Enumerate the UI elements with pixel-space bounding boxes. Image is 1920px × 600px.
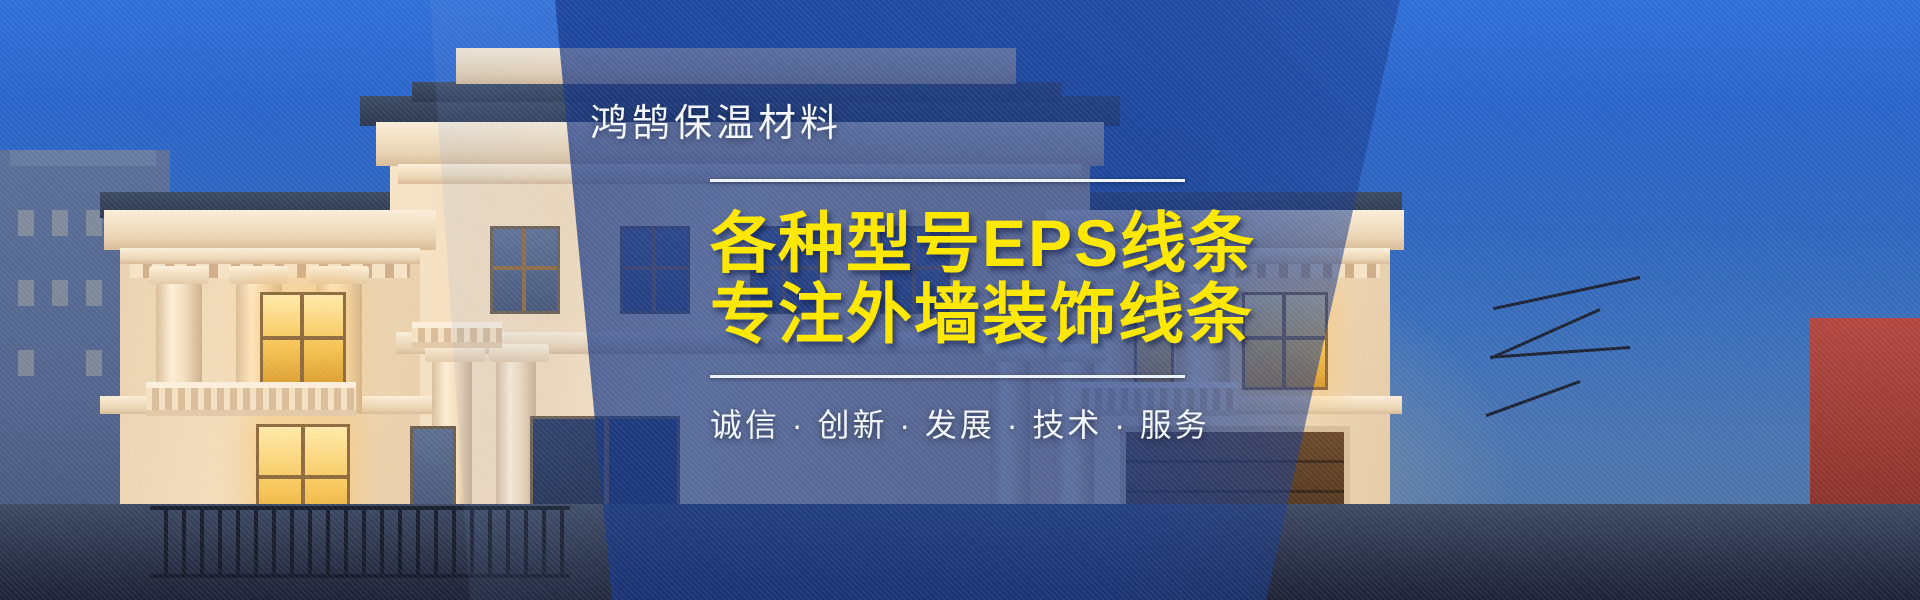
divider-bottom [710, 375, 1185, 378]
brand-name: 鸿鹄保温材料 [590, 92, 1230, 147]
headline: 各种型号EPS线条 专注外墙装饰线条 [710, 208, 1230, 351]
headline-line-2: 专注外墙装饰线条 [710, 279, 1230, 350]
red-structure [1810, 318, 1920, 508]
tree-branch [1430, 260, 1690, 450]
hero-banner: 鸿鹄保温材料 各种型号EPS线条 专注外墙装饰线条 诚信 · 创新 · 发展 ·… [0, 0, 1920, 600]
window-glow [260, 292, 346, 390]
headline-line-1: 各种型号EPS线条 [710, 206, 1256, 280]
tagline: 诚信 · 创新 · 发展 · 技术 · 服务 [710, 400, 1230, 446]
banner-copy: 鸿鹄保温材料 各种型号EPS线条 专注外墙装饰线条 诚信 · 创新 · 发展 ·… [710, 92, 1230, 446]
divider-top [710, 179, 1185, 182]
